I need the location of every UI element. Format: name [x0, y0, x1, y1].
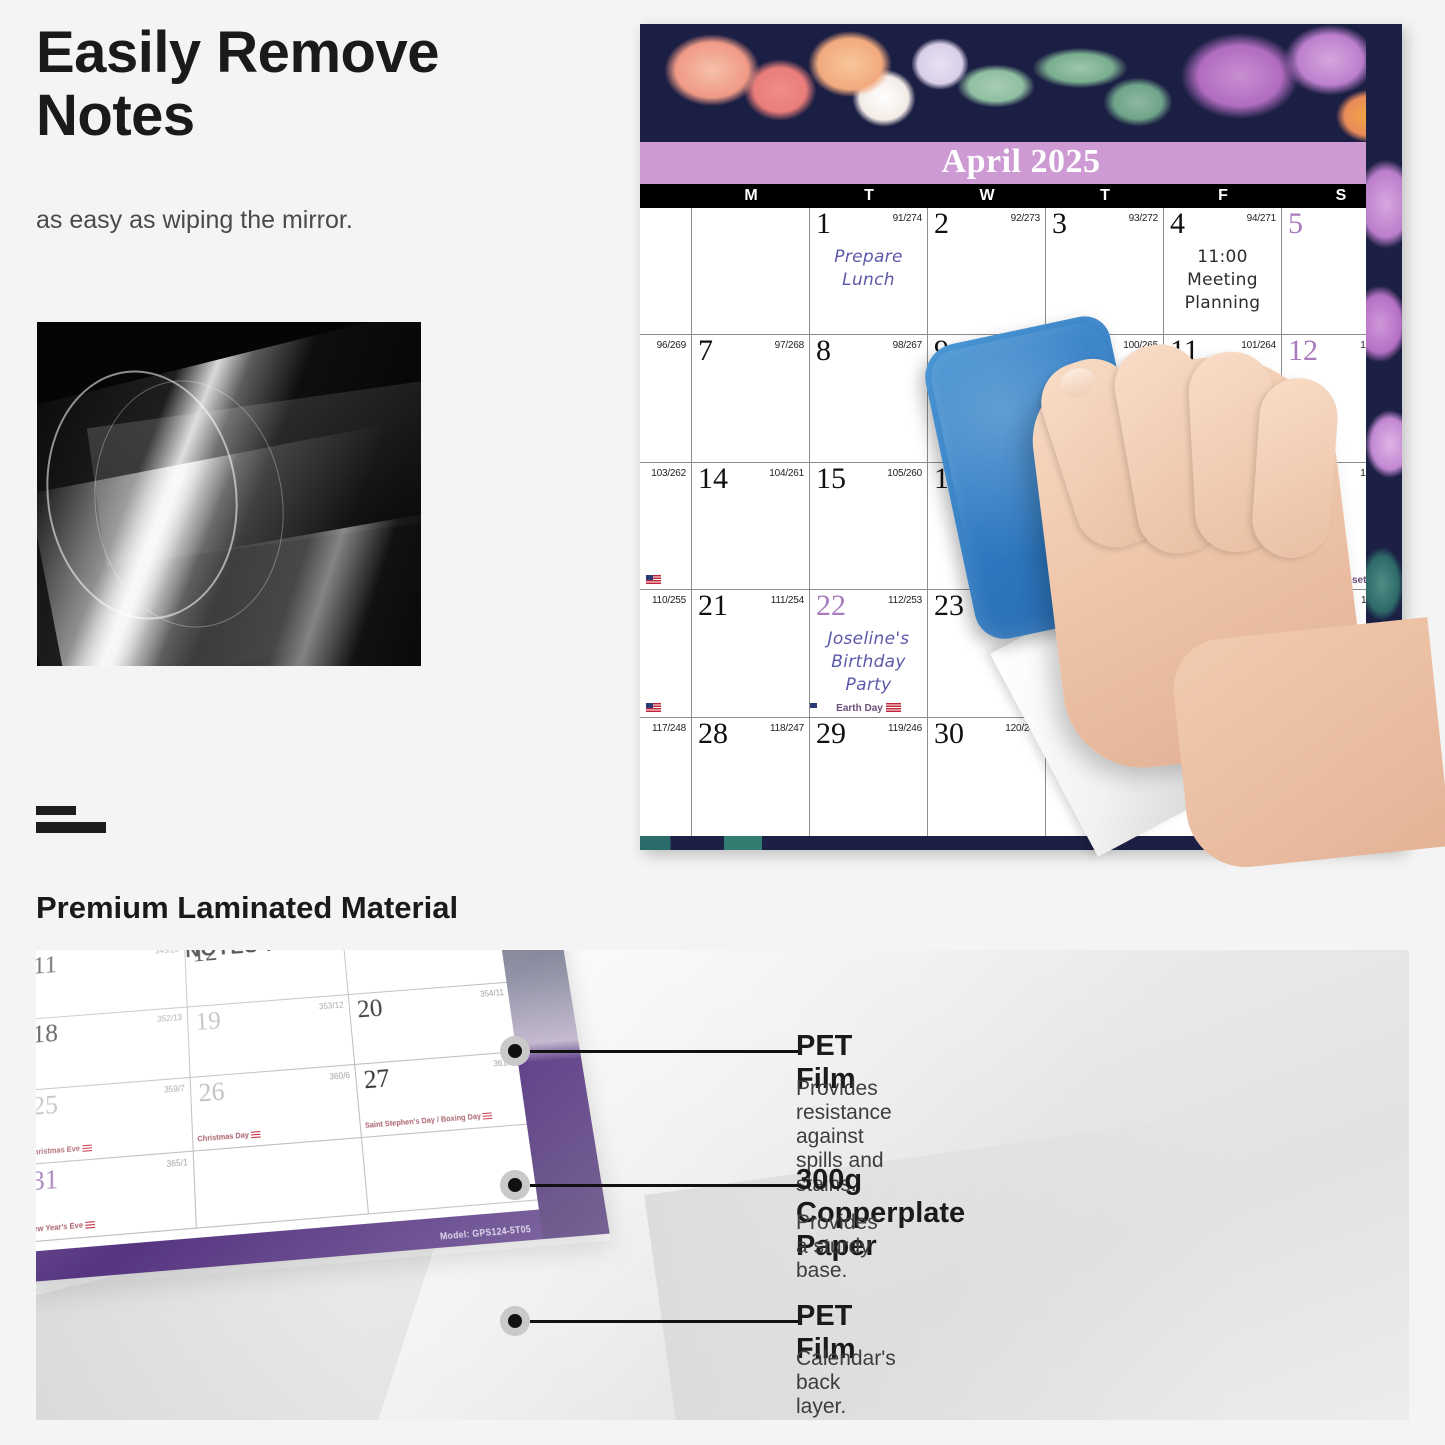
calendar-julian-date: 107/258: [1123, 468, 1158, 479]
calendar-week-row: 110/25521111/25422112/253Joseline's Birt…: [640, 590, 1402, 717]
calendar-julian-date: 98/267: [893, 340, 922, 351]
calendar-julian-date: 96/269: [657, 340, 686, 351]
calendar-day-cell[interactable]: 11101/264: [1164, 335, 1282, 461]
divider-bar-long: [36, 822, 106, 833]
calendar-julian-date: 120/245: [1005, 723, 1040, 734]
calendar-julian-date: 111/254: [771, 595, 804, 606]
calendar-day-number: 11: [1170, 336, 1199, 366]
calendar-day-cell[interactable]: 103/262: [640, 463, 692, 589]
calendar-julian-date: 115/250: [1242, 595, 1276, 606]
calendar-week-row: 103/26214104/26115105/26016106/25917107/…: [640, 463, 1402, 590]
calendar-floral-right-border: [1366, 24, 1402, 850]
calendar-day-number: 2: [934, 209, 949, 239]
calendar-julian-date: 97/268: [775, 340, 804, 351]
page-subheadline: as easy as wiping the mirror.: [36, 206, 596, 235]
calendar-week-row: 96/269797/268898/267999/26610100/2651110…: [640, 335, 1402, 462]
calendar-julian-date: 117/248: [652, 723, 686, 734]
calendar-day-cell[interactable]: 292/273: [928, 208, 1046, 334]
calendar-julian-date: 108/257: [1241, 468, 1276, 479]
calendar-day-number: 16: [934, 464, 964, 494]
calendar-day-cell[interactable]: 96/269: [640, 335, 692, 461]
calendar-julian-date: 93/272: [1129, 213, 1158, 224]
calendar-day-number: 1: [816, 209, 831, 239]
calendar-day-cell[interactable]: 110/255: [640, 590, 692, 716]
calendar-weekday-1: M: [692, 184, 810, 208]
calendar-handwritten-note: Prepare Lunch: [810, 246, 927, 292]
calendar-notes-cell[interactable]: NOTES :Fly to Wash. 8:00 am Seat.: [1046, 718, 1400, 844]
calendar-floral-footer: [640, 836, 1402, 850]
calendar-grid: 191/274Prepare Lunch292/273393/272494/27…: [640, 208, 1402, 844]
calendar-julian-date: 106/259: [1005, 468, 1040, 479]
calendar-day-number: 17: [1052, 464, 1082, 494]
callout-marker-2[interactable]: [500, 1170, 530, 1200]
calendar-photo: April 2025 MTWTFS 191/274Prepare Lunch29…: [640, 24, 1402, 850]
page-headline: Easily Remove Notes: [36, 22, 596, 147]
calendar-weekday-2: T: [810, 184, 928, 208]
calendar-notes-label: NOTES :: [1054, 720, 1155, 748]
calendar-julian-date: 112/253: [888, 595, 922, 606]
calendar-day-cell[interactable]: 24114/251: [1046, 590, 1164, 716]
calendar-weekday-5: F: [1164, 184, 1282, 208]
calendar-julian-date: 114/251: [1124, 595, 1158, 606]
calendar-julian-date: 103/262: [651, 468, 686, 479]
callout-marker-3[interactable]: [500, 1306, 530, 1336]
calendar-day-number: 25: [1170, 591, 1200, 621]
calendar-day-number: 3: [1052, 209, 1067, 239]
perspective-calendar-mockup: 11345/2012346/1913347/1818352/1319353/12…: [36, 950, 610, 1283]
calendar-julian-date: 119/246: [888, 723, 922, 734]
calendar-day-cell[interactable]: 15105/260: [810, 463, 928, 589]
calendar-day-cell[interactable]: 25115/250: [1164, 590, 1282, 716]
calendar-day-number: 7: [698, 336, 713, 366]
calendar-day-number: 18: [1170, 464, 1200, 494]
calendar-weekday-0: [640, 184, 692, 208]
calendar-day-cell[interactable]: 16106/259: [928, 463, 1046, 589]
calendar-day-number: 28: [698, 719, 728, 749]
calendar-day-number: 15: [816, 464, 846, 494]
us-flag-icon: [646, 575, 661, 584]
calendar-day-cell[interactable]: 21111/254: [692, 590, 810, 716]
calendar-day-number: 10: [1052, 336, 1082, 366]
calendar-julian-date: 92/273: [1011, 213, 1040, 224]
calendar-day-cell[interactable]: 999/266: [928, 335, 1046, 461]
calendar-day-number: 9: [934, 336, 949, 366]
calendar-day-number: 30: [934, 719, 964, 749]
calendar-day-number: 22: [816, 591, 846, 621]
calendar-weekday-3: W: [928, 184, 1046, 208]
calendar-julian-date: 105/260: [887, 468, 922, 479]
calendar-handwritten-note: Joseline's Birthday Party: [810, 628, 927, 697]
calendar-day-number: 8: [816, 336, 831, 366]
pet-film-photo: [37, 322, 421, 666]
calendar-day-cell[interactable]: 494/27111:00 Meeting Planning: [1164, 208, 1282, 334]
calendar-day-number: 14: [698, 464, 728, 494]
calendar-weekday-4: T: [1046, 184, 1164, 208]
calendar-day-number: 4: [1170, 209, 1185, 239]
calendar-day-number: 12: [1288, 336, 1318, 366]
calendar-day-cell[interactable]: 393/272: [1046, 208, 1164, 334]
partially-erased-marker-note: [938, 369, 1028, 435]
lamination-diagram: 11345/2012346/1913347/1818352/1319353/12…: [36, 950, 1409, 1420]
calendar-floral-header: [640, 24, 1402, 142]
calendar-day-cell[interactable]: 18108/257: [1164, 463, 1282, 589]
section-title: Premium Laminated Material: [36, 890, 458, 926]
calendar-month-title: April 2025: [640, 143, 1402, 181]
calendar-julian-date: 91/274: [893, 213, 922, 224]
calendar-day-cell[interactable]: 22112/253Joseline's Birthday PartyEarth …: [810, 590, 928, 716]
calendar-day-number: 19: [1288, 464, 1318, 494]
calendar-day-cell[interactable]: 14104/261: [692, 463, 810, 589]
calendar-day-cell[interactable]: 117/248: [640, 718, 692, 844]
calendar-day-cell[interactable]: [640, 208, 692, 334]
calendar-week-row: 191/274Prepare Lunch292/273393/272494/27…: [640, 208, 1402, 335]
calendar-julian-date: 99/266: [1011, 340, 1040, 351]
us-flag-icon: [886, 703, 901, 712]
calendar-day-cell[interactable]: 30120/245: [928, 718, 1046, 844]
mockup-laminate-film: [36, 950, 611, 1290]
calendar-day-number: 5: [1288, 209, 1303, 239]
calendar-julian-date: 94/271: [1247, 213, 1276, 224]
callout-leader-line-1: [530, 1050, 798, 1053]
calendar-month-band: April 2025: [640, 142, 1402, 184]
calendar-day-cell[interactable]: 23113/252: [928, 590, 1046, 716]
us-flag-icon: [646, 703, 661, 712]
calendar-julian-date: 101/264: [1241, 340, 1276, 351]
section-divider: [36, 806, 106, 833]
calendar-day-cell[interactable]: 191/274Prepare Lunch: [810, 208, 928, 334]
calendar-notes-handwriting: Fly to Wash. 8:00 am Seat.: [1080, 758, 1396, 807]
divider-bar-short: [36, 806, 76, 815]
calendar-julian-date: 110/255: [652, 595, 686, 606]
calendar-holiday-label: Earth Day: [810, 703, 927, 714]
calendar-day-number: 23: [934, 591, 964, 621]
calendar-day-number: 29: [816, 719, 846, 749]
calendar-week-row: 117/24828118/24729119/24630120/245NOTES …: [640, 718, 1402, 844]
calendar-weekday-header: MTWTFS: [640, 184, 1402, 208]
calendar-julian-date: 104/261: [769, 468, 804, 479]
calendar-julian-date: 113/252: [1006, 595, 1040, 606]
callout-leader-line-2: [530, 1184, 798, 1187]
callout-subtitle-3: Calendar's back layer.: [796, 1347, 896, 1419]
calendar-julian-date: 118/247: [770, 723, 804, 734]
calendar-day-cell[interactable]: 28118/247: [692, 718, 810, 844]
calendar-day-cell[interactable]: 898/267: [810, 335, 928, 461]
calendar-day-number: 21: [698, 591, 728, 621]
calendar-handwritten-note: 11:00 Meeting Planning: [1164, 246, 1281, 315]
callout-marker-1[interactable]: [500, 1036, 530, 1066]
calendar-day-number: 26: [1288, 591, 1318, 621]
calendar-day-cell[interactable]: 10100/265: [1046, 335, 1164, 461]
callout-leader-line-3: [530, 1320, 798, 1323]
calendar-day-cell[interactable]: 797/268: [692, 335, 810, 461]
calendar-day-cell[interactable]: 29119/246: [810, 718, 928, 844]
calendar-julian-date: 100/265: [1123, 340, 1158, 351]
calendar-day-number: 24: [1052, 591, 1082, 621]
product-feature-page: Easily Remove Notes as easy as wiping th…: [0, 0, 1445, 1445]
callout-subtitle-2: Provides a sturdy base.: [796, 1211, 878, 1283]
calendar-day-cell[interactable]: 17107/258: [1046, 463, 1164, 589]
calendar-day-cell[interactable]: [692, 208, 810, 334]
